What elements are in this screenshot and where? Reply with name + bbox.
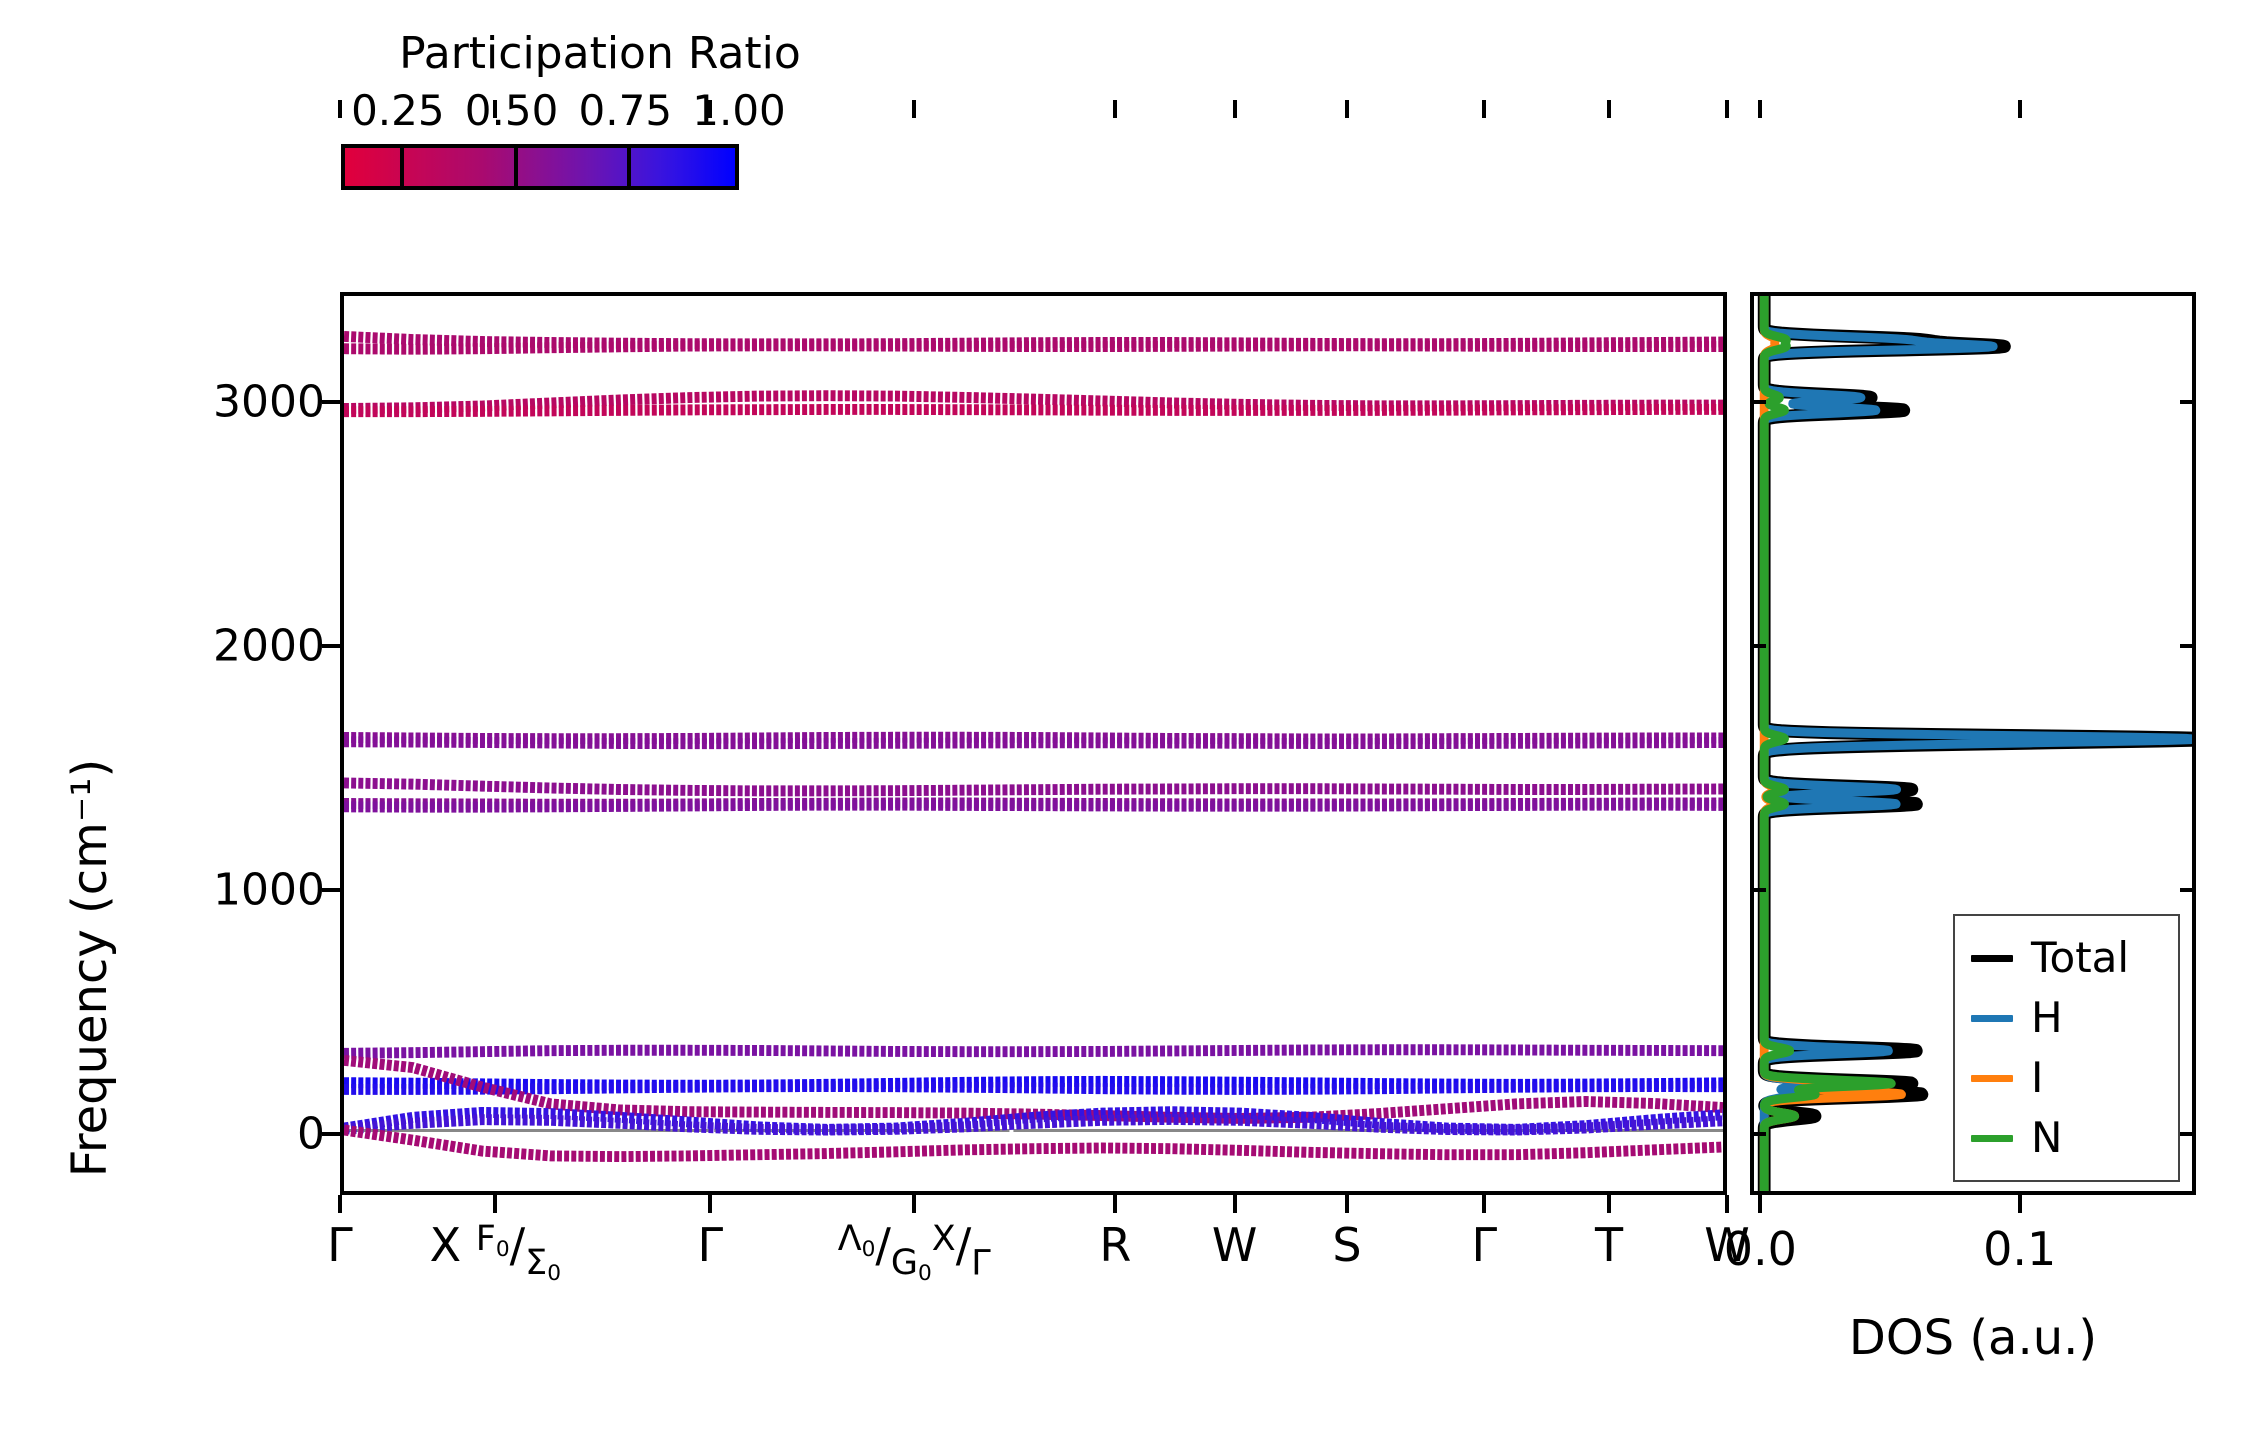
dos-x-tick-mark — [2018, 1195, 2022, 1213]
legend-label: Total — [2031, 937, 2129, 979]
y-axis-tick-labels: 0100020003000 — [110, 292, 325, 1195]
legend-color-swatch — [1971, 1135, 2013, 1142]
legend-color-swatch — [1971, 955, 2013, 962]
x-axis-tick-mark-top — [1482, 100, 1486, 118]
y-axis-tick-mark — [322, 644, 340, 648]
high-symmetry-label: Λ0/G0X/Γ — [838, 1222, 991, 1285]
high-symmetry-point-labels: ΓX F0/Σ0ΓΛ0/G0X/ΓRWSΓTW — [340, 1222, 1727, 1332]
x-axis-tick-mark — [912, 1195, 916, 1213]
phonon-band-structure-plot[interactable] — [340, 292, 1727, 1195]
x-axis-tick-mark-top — [493, 100, 497, 118]
y-axis-tick-label: 2000 — [125, 620, 325, 671]
dos-axis-label: DOS (a.u.) — [1750, 1310, 2196, 1366]
x-axis-tick-mark — [1345, 1195, 1349, 1213]
dos-x-axis-tick-labels: 0.00.1 — [1750, 1222, 2196, 1292]
high-symmetry-label: Γ — [1471, 1222, 1497, 1268]
legend-label: H — [2031, 997, 2063, 1039]
legend-item: Total — [1971, 934, 2178, 982]
colorbar-tick-labels: 0.250.500.751.00 — [340, 86, 860, 142]
high-symmetry-label: Γ — [327, 1222, 353, 1268]
dos-x-tick-label: 0.1 — [1983, 1222, 2056, 1276]
legend-color-swatch — [1971, 1075, 2013, 1082]
colorbar-tick-mark — [400, 148, 404, 186]
high-symmetry-label: Γ — [698, 1222, 724, 1268]
phonon-band — [344, 805, 1723, 807]
x-axis-tick-mark — [493, 1195, 497, 1213]
dos-x-tick-label: 0.0 — [1724, 1222, 1797, 1276]
x-axis-tick-mark — [1725, 1195, 1729, 1213]
band-structure-svg — [344, 296, 1723, 1191]
legend-label: I — [2031, 1057, 2043, 1099]
colorbar-tick-label: 0.75 — [579, 86, 673, 135]
phonon-band — [344, 1087, 1723, 1090]
y-axis-tick-mark — [322, 400, 340, 404]
x-axis-tick-mark-top — [1345, 100, 1349, 118]
x-axis-tick-mark-top — [1233, 100, 1237, 118]
legend-label: N — [2031, 1117, 2062, 1159]
x-axis-tick-mark — [1607, 1195, 1611, 1213]
dos-x-axis-ticks — [1750, 1195, 2196, 1196]
x-axis-tick-mark — [708, 1195, 712, 1213]
x-axis-tick-mark-top — [1607, 100, 1611, 118]
high-symmetry-label: T — [1595, 1222, 1623, 1268]
x-axis-tick-mark — [338, 1195, 342, 1213]
y-axis-tick-mark — [322, 888, 340, 892]
colorbar-tick-mark — [627, 148, 631, 186]
high-symmetry-label: X F0/Σ0 — [430, 1222, 561, 1285]
phonon-band — [344, 742, 1723, 744]
dos-legend: TotalHIN — [1953, 914, 2180, 1182]
x-axis-tick-mark-top — [708, 100, 712, 118]
x-axis-tick-mark-top — [338, 100, 342, 118]
high-symmetry-label: W — [1212, 1222, 1257, 1268]
high-symmetry-label: S — [1332, 1222, 1361, 1268]
legend-item: N — [1971, 1114, 2178, 1162]
dos-x-tick-mark — [1758, 1195, 1762, 1213]
colorbar-tick-label: 1.00 — [692, 86, 786, 135]
band-x-axis-ticks — [340, 1195, 1727, 1196]
colorbar-tick-mark — [514, 148, 518, 186]
high-symmetry-label: R — [1099, 1222, 1131, 1268]
dos-x-tick-mark-top — [2018, 100, 2022, 118]
colorbar-title: Participation Ratio — [340, 28, 860, 79]
x-axis-tick-mark — [1482, 1195, 1486, 1213]
colorbar-tick-label: 0.50 — [465, 86, 559, 135]
legend-color-swatch — [1971, 1015, 2013, 1022]
colorbar-tick-label: 0.25 — [351, 86, 445, 135]
x-axis-tick-mark-top — [1725, 100, 1729, 118]
y-axis-tick-label: 0 — [125, 1108, 325, 1159]
y-axis-tick-label: 1000 — [125, 864, 325, 915]
x-axis-tick-mark — [1113, 1195, 1117, 1213]
x-axis-tick-mark-top — [912, 100, 916, 118]
dos-x-tick-mark-top — [1758, 100, 1762, 118]
colorbar-bar — [341, 144, 739, 190]
legend-item: I — [1971, 1054, 2178, 1102]
participation-ratio-colorbar: Participation Ratio 0.250.500.751.00 — [0, 0, 1100, 270]
x-axis-tick-mark — [1233, 1195, 1237, 1213]
phonon-band — [344, 783, 1723, 791]
phonon-band — [344, 1050, 1723, 1054]
y-axis-tick-mark — [322, 1132, 340, 1136]
x-axis-tick-mark-top — [1113, 100, 1117, 118]
legend-item: H — [1971, 994, 2178, 1042]
phonon-band — [344, 346, 1723, 349]
y-axis-tick-label: 3000 — [125, 376, 325, 427]
phonon-band — [344, 409, 1723, 411]
